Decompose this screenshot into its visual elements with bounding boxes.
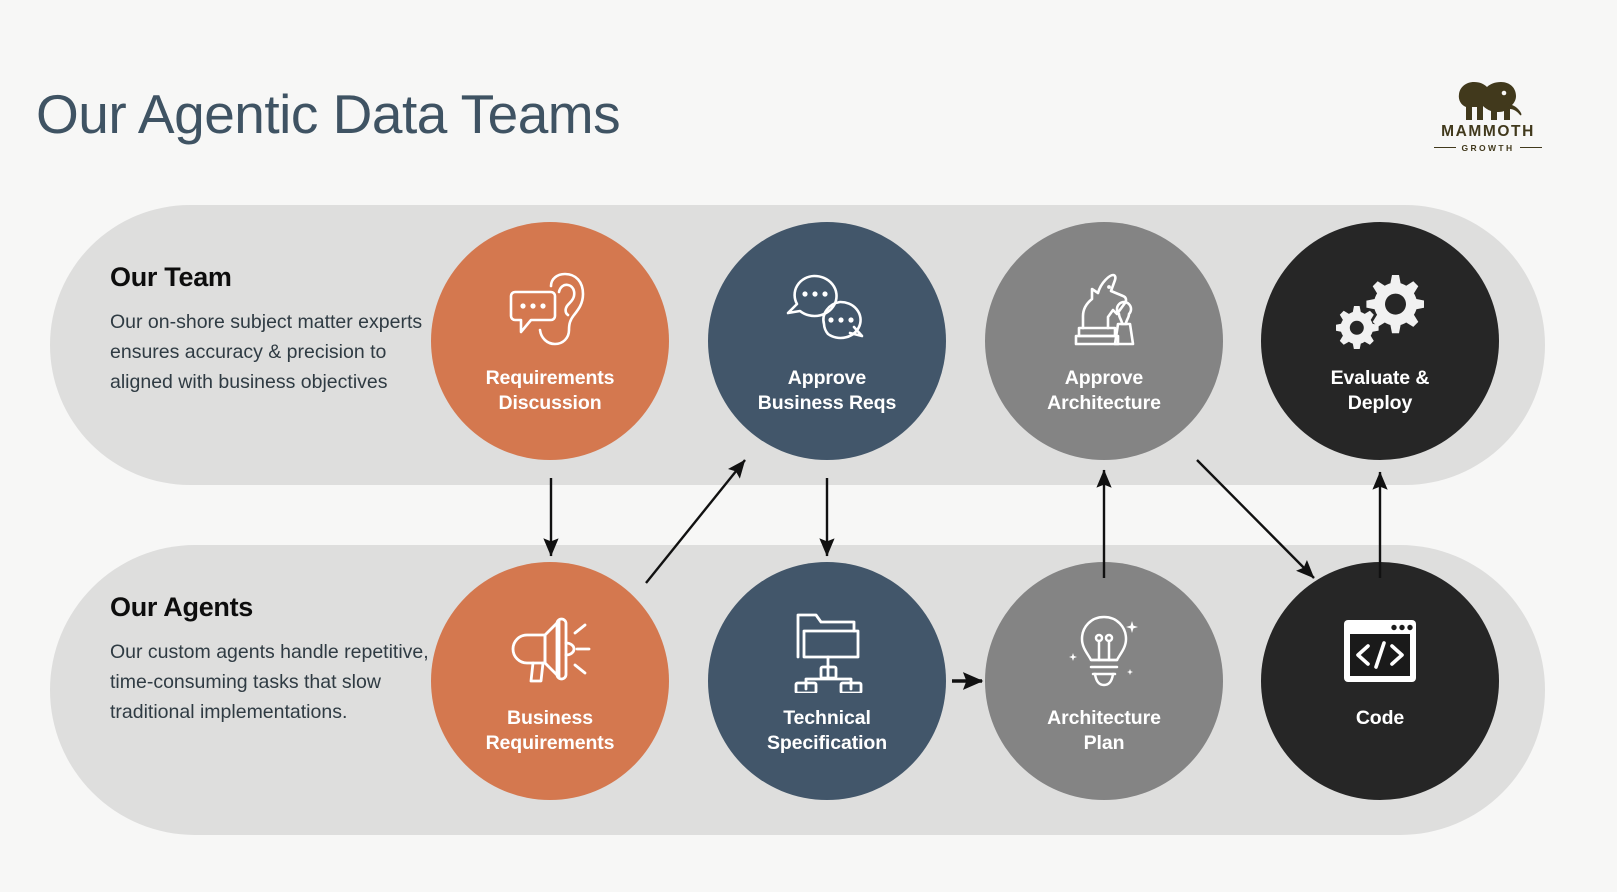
node-requirements-discussion[interactable]: Requirements Discussion (431, 222, 669, 460)
mammoth-icon (1452, 80, 1524, 122)
node-label: Technical Specification (753, 706, 901, 756)
logo-rule-right (1520, 147, 1542, 148)
node-technical-specification[interactable]: Technical Specification (708, 562, 946, 800)
node-label: Approve Business Reqs (744, 366, 911, 416)
our-agents-heading: Our Agents (110, 592, 430, 623)
gears-icon (1336, 266, 1424, 356)
node-label: Business Requirements (472, 706, 629, 756)
folder-hierarchy-icon (784, 606, 870, 696)
page-title: Our Agentic Data Teams (36, 82, 620, 146)
node-label: Approve Architecture (1033, 366, 1175, 416)
two-speech-bubbles-icon (784, 266, 870, 356)
our-team-text-block: Our Team Our on-shore subject matter exp… (110, 262, 430, 397)
node-approve-business-reqs[interactable]: Approve Business Reqs (708, 222, 946, 460)
lightbulb-sparkle-icon (1064, 606, 1144, 696)
chess-knight-icon (1063, 266, 1145, 356)
node-approve-architecture[interactable]: Approve Architecture (985, 222, 1223, 460)
code-window-icon (1340, 606, 1420, 696)
our-agents-description: Our custom agents handle repetitive, tim… (110, 637, 430, 727)
slide-canvas: Our Agentic Data Teams MAMMOTH GROWTH Ou… (0, 0, 1617, 892)
node-business-requirements[interactable]: Business Requirements (431, 562, 669, 800)
node-code[interactable]: Code (1261, 562, 1499, 800)
logo-rule-left (1434, 147, 1456, 148)
ear-speech-bubble-icon (507, 266, 593, 356)
our-team-description: Our on-shore subject matter experts ensu… (110, 307, 430, 397)
logo-subrow: GROWTH (1434, 144, 1542, 153)
our-team-heading: Our Team (110, 262, 430, 293)
logo-wordmark: MAMMOTH (1441, 124, 1535, 140)
our-agents-text-block: Our Agents Our custom agents handle repe… (110, 592, 430, 727)
node-label: Evaluate & Deploy (1317, 366, 1444, 416)
node-label: Architecture Plan (1033, 706, 1175, 756)
node-label: Code (1342, 706, 1418, 731)
node-label: Requirements Discussion (472, 366, 629, 416)
mammoth-growth-logo: MAMMOTH GROWTH (1434, 80, 1542, 162)
logo-subword: GROWTH (1461, 144, 1514, 153)
node-architecture-plan[interactable]: Architecture Plan (985, 562, 1223, 800)
node-evaluate-deploy[interactable]: Evaluate & Deploy (1261, 222, 1499, 460)
megaphone-icon (505, 606, 595, 696)
